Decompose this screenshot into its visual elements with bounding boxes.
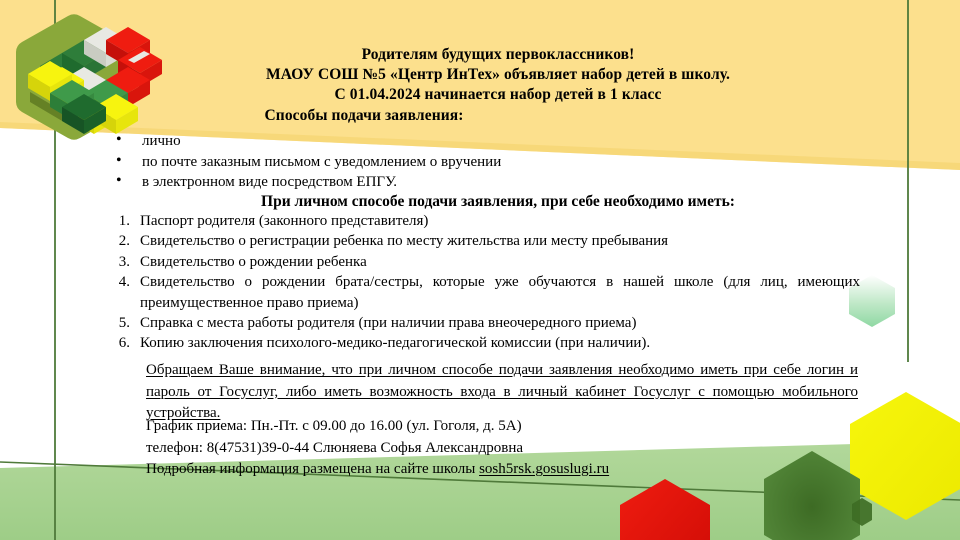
item-text: Копию заключения психолого-медико-педаго… (140, 335, 650, 351)
logo-base-shadow (30, 90, 122, 128)
list-item: по почте заказным письмом с уведомлением… (142, 152, 862, 173)
list-item: в электронном виде посредством ЕПГУ. (142, 172, 862, 193)
small-green-sliver (852, 498, 872, 526)
item-number: 1. (108, 211, 130, 231)
school-website-link[interactable]: sosh5rsk.gosuslugi.ru (479, 461, 609, 477)
required-documents-list: 1. Паспорт родителя (законного представи… (108, 211, 860, 354)
reception-schedule: График приема: Пн.-Пт. с 09.00 до 16.00 … (146, 416, 906, 438)
slide-canvas: Родителям будущих первоклассников! МАОУ … (0, 0, 960, 540)
item-text: Паспорт родителя (законного представител… (140, 213, 428, 229)
submission-methods-list: лично по почте заказным письмом с уведом… (108, 131, 862, 193)
red-hexagon (620, 479, 710, 540)
item-text: Свидетельство о регистрации ребенка по м… (140, 233, 668, 249)
header-line-1: Родителям будущих первоклассников! (118, 45, 878, 65)
item-number: 5. (108, 313, 130, 333)
header-line-4: Способы подачи заявления: (118, 106, 878, 126)
item-number: 4. (108, 272, 130, 292)
table-row: 4. Свидетельство о рождении брата/сестры… (108, 272, 860, 313)
item-number: 3. (108, 252, 130, 272)
item-number: 2. (108, 231, 130, 251)
table-row: 6. Копию заключения психолого-медико-пед… (108, 333, 860, 353)
item-text: Справка с места работы родителя (при нал… (140, 315, 636, 331)
header-text-block: Родителям будущих первоклассников! МАОУ … (118, 45, 878, 126)
contact-block: График приема: Пн.-Пт. с 09.00 до 16.00 … (146, 416, 906, 481)
table-row: 2. Свидетельство о регистрации ребенка п… (108, 231, 860, 251)
item-text: Свидетельство о рождении брата/сестры, к… (140, 274, 860, 310)
contact-phone: телефон: 8(47531)39-0-44 Слюняева Софья … (146, 438, 906, 460)
header-line-2: МАОУ СОШ №5 «Центр ИнТех» объявляет набо… (118, 65, 878, 85)
header-line-3: С 01.04.2024 начинается набор детей в 1 … (118, 85, 878, 105)
logo-hexagon-backdrop (16, 14, 132, 139)
attention-paragraph: Обращаем Ваше внимание, что при личном с… (146, 360, 858, 425)
documents-subheading: При личном способе подачи заявления, при… (118, 192, 914, 212)
item-text: Свидетельство о рождении ребенка (140, 254, 367, 270)
table-row: 3. Свидетельство о рождении ребенка (108, 252, 860, 272)
website-line: Подробная информация размещена на сайте … (146, 459, 906, 481)
list-item: лично (142, 131, 862, 152)
item-number: 6. (108, 333, 130, 353)
table-row: 1. Паспорт родителя (законного представи… (108, 211, 860, 231)
table-row: 5. Справка с места работы родителя (при … (108, 313, 860, 333)
website-prefix: Подробная информация размещена на сайте … (146, 461, 479, 477)
